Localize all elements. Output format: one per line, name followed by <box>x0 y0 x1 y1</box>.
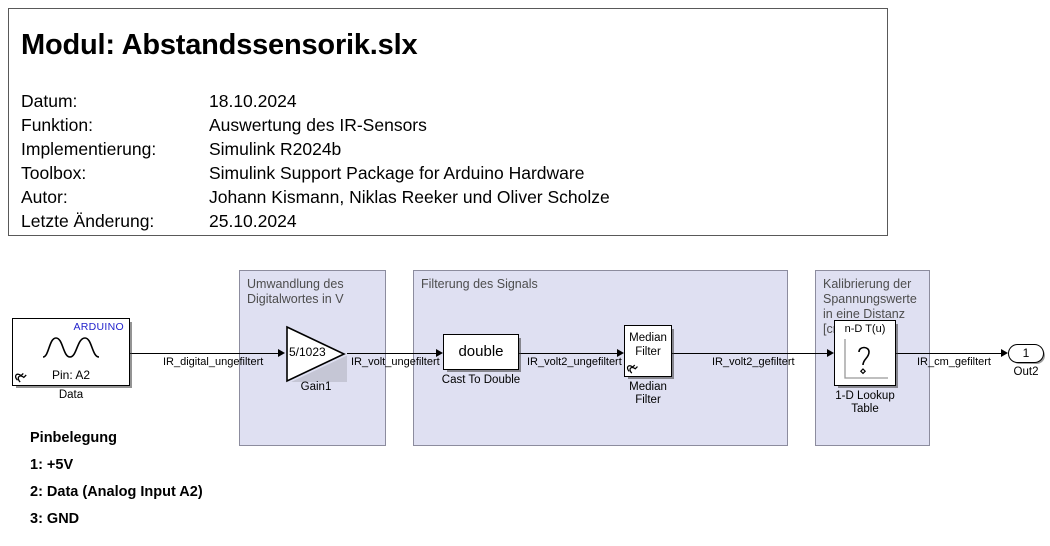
meta-key-autor: Autor: <box>21 185 209 209</box>
gain-block[interactable]: 5/1023 <box>285 325 347 383</box>
wire-median-to-lookup <box>672 353 827 354</box>
meta-value-toolbox: Simulink Support Package for Arduino Har… <box>209 161 610 185</box>
wire-cast-to-median <box>519 353 617 354</box>
meta-value-letzte-aenderung: 25.10.2024 <box>209 209 610 233</box>
library-link-icon <box>626 359 642 375</box>
lookup-table-expression: n-D T(u) <box>835 323 895 335</box>
signal-label-ir-volt-ungefiltert: IR_volt_ungefiltert <box>351 356 440 368</box>
cast-to-double-value: double <box>444 343 518 360</box>
meta-value-implementierung: Simulink R2024b <box>209 137 610 161</box>
outport-number: 1 <box>1009 346 1043 360</box>
wire-lookup-to-outport <box>896 353 1001 354</box>
meta-key-funktion: Funktion: <box>21 113 209 137</box>
table-row: Letzte Änderung: 25.10.2024 <box>21 209 610 233</box>
page-title: Modul: Abstandssensorik.slx <box>21 29 417 62</box>
median-filter-value: Median Filter <box>625 331 671 359</box>
meta-value-funktion: Auswertung des IR-Sensors <box>209 113 610 137</box>
list-item: 2: Data (Analog Input A2) <box>30 479 203 506</box>
meta-value-autor: Johann Kismann, Niklas Reeker und Oliver… <box>209 185 610 209</box>
table-row: Implementierung: Simulink R2024b <box>21 137 610 161</box>
pin-legend: Pinbelegung 1: +5V 2: Data (Analog Input… <box>30 425 203 533</box>
subsystem-title-filtering: Filterung des Signals <box>421 277 621 292</box>
signal-label-ir-volt2-gefiltert: IR_volt2_gefiltert <box>712 356 795 368</box>
lookup-table-block[interactable]: n-D T(u) <box>834 320 896 386</box>
arrow-gain-input <box>278 349 285 357</box>
outport-block[interactable]: 1 <box>1008 344 1044 363</box>
module-info-box: Modul: Abstandssensorik.slx Datum: 18.10… <box>8 8 888 236</box>
pin-legend-title: Pinbelegung <box>30 425 203 452</box>
analog-waveform-icon <box>41 335 103 359</box>
cast-to-double-caption: Cast To Double <box>429 374 533 387</box>
signal-label-ir-volt2-ungefiltert: IR_volt2_ungefiltert <box>527 356 622 368</box>
gain-value-label: 5/1023 <box>289 345 326 359</box>
median-filter-block[interactable]: Median Filter <box>624 325 672 377</box>
table-row: Toolbox: Simulink Support Package for Ar… <box>21 161 610 185</box>
signal-label-ir-cm-gefiltert: IR_cm_gefiltert <box>917 356 991 368</box>
list-item: 1: +5V <box>30 452 203 479</box>
lookup-table-caption: 1-D Lookup Table <box>824 390 906 416</box>
outport-caption: Out2 <box>1003 366 1049 379</box>
arrow-lookup-input <box>827 349 834 357</box>
lookup-curve-icon <box>842 338 890 382</box>
meta-key-letzte-aenderung: Letzte Änderung: <box>21 209 209 233</box>
median-filter-caption: Median Filter <box>608 381 688 407</box>
arduino-vendor-label: ARDUINO <box>73 321 124 333</box>
signal-label-ir-digital-ungefiltert: IR_digital_ungefiltert <box>163 356 263 368</box>
gain-block-caption: Gain1 <box>285 381 347 394</box>
wire-gain-to-cast <box>347 353 436 354</box>
table-row: Datum: 18.10.2024 <box>21 89 610 113</box>
meta-value-datum: 18.10.2024 <box>209 89 610 113</box>
cast-to-double-block[interactable]: double <box>443 334 519 370</box>
arduino-analog-input-block[interactable]: ARDUINO Pin: A2 <box>12 318 130 386</box>
meta-key-implementierung: Implementierung: <box>21 137 209 161</box>
meta-key-toolbox: Toolbox: <box>21 161 209 185</box>
table-row: Funktion: Auswertung des IR-Sensors <box>21 113 610 137</box>
module-metadata-table: Datum: 18.10.2024 Funktion: Auswertung d… <box>21 89 610 233</box>
subsystem-title-conversion: Umwandlung des Digitalwortes in V <box>247 277 379 307</box>
table-row: Autor: Johann Kismann, Niklas Reeker und… <box>21 185 610 209</box>
wire-source-to-gain <box>130 353 278 354</box>
meta-key-datum: Datum: <box>21 89 209 113</box>
library-link-icon <box>14 367 31 384</box>
arduino-block-caption: Data <box>12 389 130 402</box>
arrow-outport-input <box>1001 349 1008 357</box>
list-item: 3: GND <box>30 506 203 533</box>
